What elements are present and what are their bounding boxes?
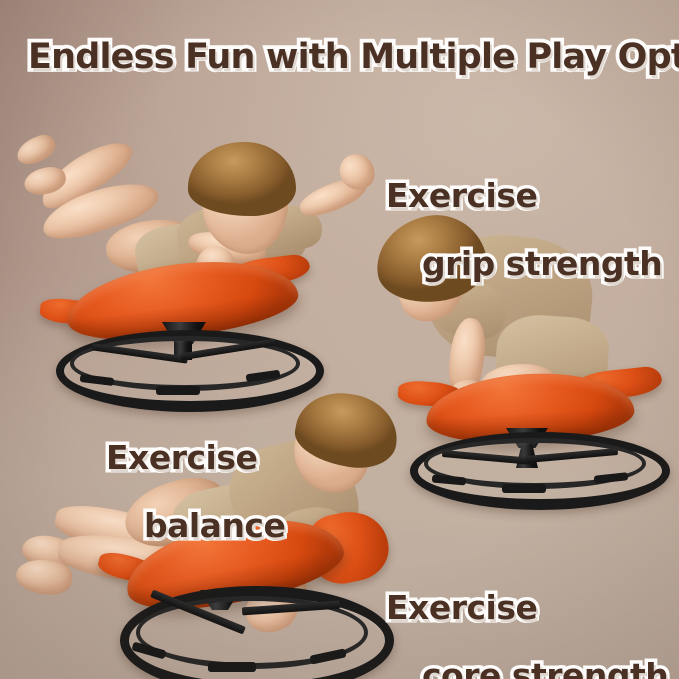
caption-core-strength: Exercise core strength: [378, 524, 668, 679]
caption-grip-strength: Exercise grip strength: [378, 112, 662, 314]
poster-canvas: Endless Fun with Multiple Play Options E…: [0, 0, 679, 679]
caption-balance-line1: Exercise: [106, 441, 285, 475]
caption-balance-line2: balance: [144, 506, 285, 545]
caption-grip-line2: grip strength: [422, 244, 662, 283]
caption-balance: Exercise balance: [100, 374, 285, 576]
caption-core-line2: core strength: [422, 656, 668, 679]
caption-grip-line1: Exercise: [386, 179, 662, 213]
page-title: Endless Fun with Multiple Play Options: [28, 40, 679, 76]
caption-core-line1: Exercise: [386, 591, 668, 625]
